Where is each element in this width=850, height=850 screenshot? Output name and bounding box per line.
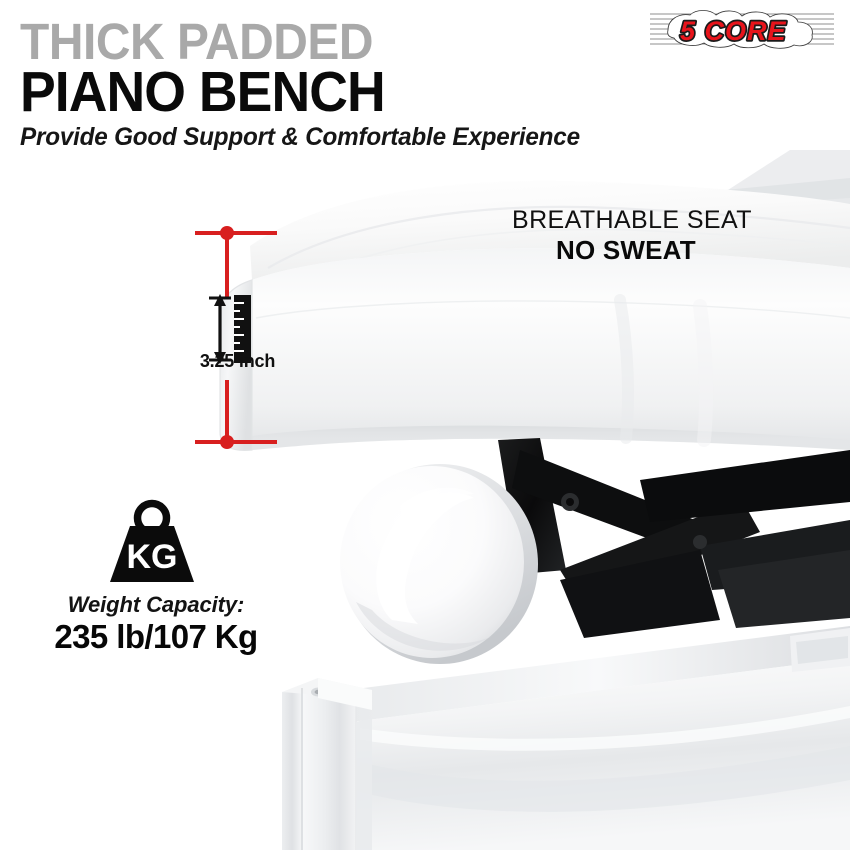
measure-guide-line-top — [195, 231, 277, 235]
logo-wordmark: 5 CORE — [680, 16, 787, 46]
callout-no-sweat: NO SWEAT — [556, 237, 696, 263]
product-infographic: THICK PADDED PIANO BENCH Provide Good Su… — [0, 0, 850, 850]
adjustment-knob — [340, 464, 538, 664]
weight-capacity-label: Weight Capacity: — [22, 592, 290, 618]
kg-weight-icon: KG — [100, 498, 204, 586]
measure-axis-lower — [225, 380, 229, 442]
page-subtitle: Provide Good Support & Comfortable Exper… — [20, 125, 580, 150]
measure-axis-upper — [225, 235, 229, 297]
callout-breathable-seat: BREATHABLE SEAT — [512, 208, 752, 233]
measurement-label: 3.25 inch — [175, 351, 300, 372]
weight-capacity-value: 235 lb/107 Kg — [22, 618, 290, 656]
kg-icon-label: KG — [127, 538, 178, 576]
bench-frame — [282, 626, 850, 850]
measure-guide-line-bottom — [195, 440, 277, 444]
brand-logo: 5 CORE 5 CORE — [648, 8, 836, 50]
measurement-callout: 3.25 inch — [170, 225, 300, 455]
page-title: PIANO BENCH — [20, 64, 385, 121]
lift-mechanism — [498, 438, 850, 638]
5-core-logo-icon: 5 CORE 5 CORE — [648, 8, 836, 50]
